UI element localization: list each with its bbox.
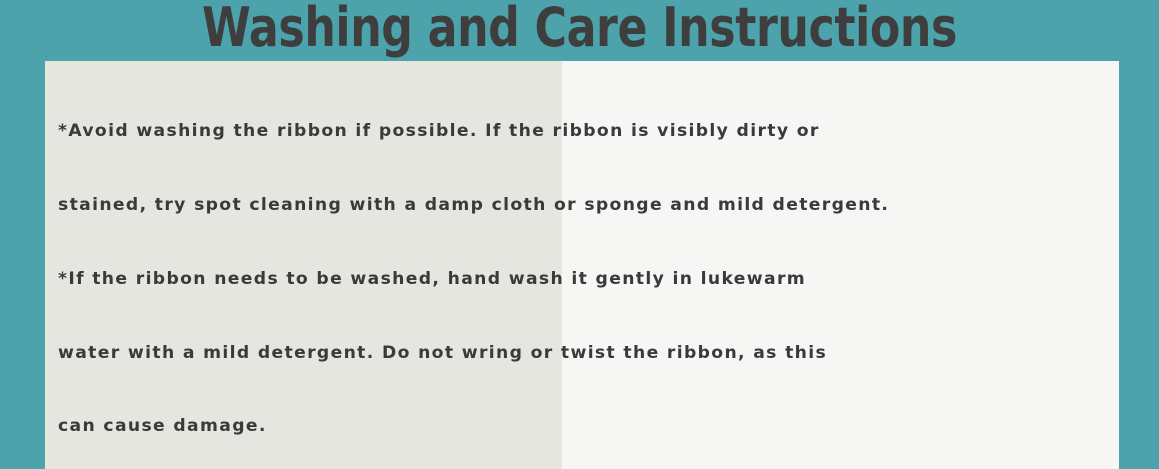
instruction-line: *Avoid washing the ribbon if possible. I…: [58, 119, 1116, 144]
instruction-line: stained, try spot cleaning with a damp c…: [58, 193, 1116, 218]
instruction-line: *If the ribbon needs to be washed, hand …: [58, 267, 1116, 292]
page-title: Washing and Care Instructions: [104, 0, 1054, 58]
instructions-text-block: *Avoid washing the ribbon if possible. I…: [58, 70, 1116, 469]
instruction-line: water with a mild detergent. Do not wrin…: [58, 341, 1116, 366]
instruction-line: can cause damage.: [58, 414, 1116, 439]
poster-root: Washing and Care Instructions *Avoid was…: [0, 0, 1159, 469]
instructions-card: *Avoid washing the ribbon if possible. I…: [45, 61, 1119, 469]
